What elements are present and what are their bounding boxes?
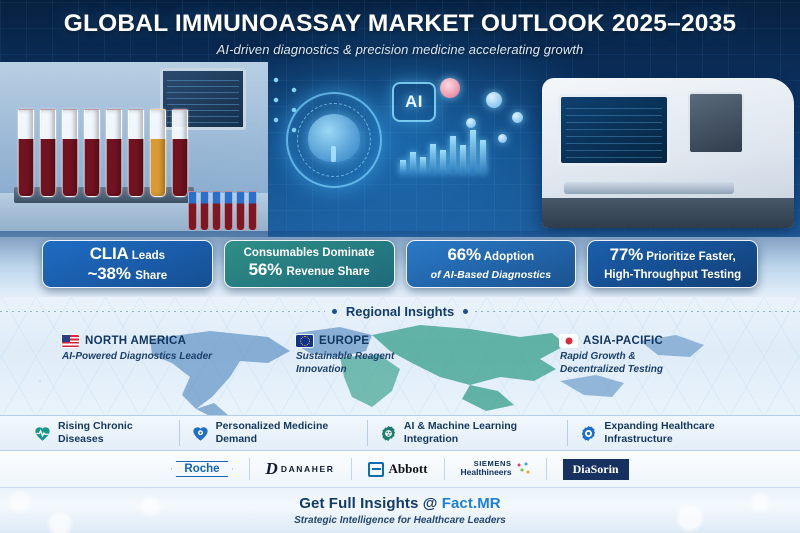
region-description: Sustainable Reagent Innovation (296, 350, 416, 376)
japan-flag-icon (560, 335, 577, 347)
roche-wordmark: Roche (171, 461, 232, 477)
rule-left (0, 311, 325, 312)
heart-pulse-icon (33, 424, 52, 443)
kpi-value: ~38% (88, 264, 131, 283)
kpi-card-clia-share[interactable]: CLIA Leads ~38% Share (42, 240, 213, 288)
bullet-dot-icon (332, 309, 337, 314)
kpi-card-throughput-priority[interactable]: 77% Prioritize Faster, High-Throughput T… (587, 240, 758, 288)
test-tube (172, 109, 188, 197)
abbott-wordmark: Abbott (389, 461, 428, 477)
market-drivers-row: Rising Chronic Diseases Personalized Med… (0, 415, 800, 451)
logo-abbott[interactable]: Abbott (351, 458, 444, 480)
analyzer-base (542, 198, 794, 228)
kpi-value: 66% (448, 245, 481, 264)
molecule-node-icon (466, 118, 476, 128)
gear-icon (579, 424, 598, 443)
mini-tube (200, 191, 209, 231)
regional-heading-rule: Regional Insights (0, 304, 800, 318)
kpi-label: Share (135, 270, 167, 282)
page-title: GLOBAL IMMUNOASSAY MARKET OUTLOOK 2025–2… (0, 10, 800, 38)
hero-banner: AI GLOBAL IMMUNOASSAY MARKET OUTLOOK 202… (0, 0, 800, 237)
mini-tube (212, 191, 221, 231)
driver-label: Expanding Healthcare Infrastructure (604, 420, 767, 446)
immunoassay-analyzer-photo (542, 78, 794, 228)
test-tube (84, 109, 100, 197)
cta-prefix: Get Full Insights @ (299, 495, 441, 512)
driver-label: AI & Machine Learning Integration (404, 420, 557, 446)
company-logos-row: Roche D DANAHER Abbott SIEMENS Healthine… (0, 451, 800, 488)
regional-insights-section: Regional Insights NORTH AMERICA AI-Power… (0, 297, 800, 415)
logo-diasorin[interactable]: DiaSorin (546, 458, 645, 480)
driver-personalized-medicine-demand[interactable]: Personalized Medicine Demand (179, 420, 367, 446)
molecule-node-icon (512, 112, 523, 123)
test-tube (18, 109, 34, 197)
kpi-label: of AI-Based Diagnostics (431, 269, 551, 281)
siemens-dots-icon (516, 462, 530, 476)
cell-cluster-icon (440, 78, 460, 98)
driver-ai-ml-integration[interactable]: AI & Machine Learning Integration (367, 420, 568, 446)
analyzer-sample-tray (564, 182, 734, 194)
abbott-mark-icon (368, 462, 384, 477)
blood-sample-tubes-photo (0, 62, 268, 237)
bullet-dot-icon (463, 309, 468, 314)
kpi-card-ai-adoption[interactable]: 66% Adoption of AI-Based Diagnostics (406, 240, 577, 288)
us-flag-icon (62, 335, 79, 347)
region-name: EUROPE (319, 335, 369, 347)
healthineers-wordmark: Healthineers (461, 468, 512, 477)
kpi-label: Adoption (484, 251, 534, 263)
test-tube (40, 109, 56, 197)
test-tube (62, 109, 78, 197)
region-north-america[interactable]: NORTH AMERICA AI-Powered Diagnostics Lea… (62, 335, 212, 363)
page-subtitle: AI-driven diagnostics & precision medici… (0, 42, 800, 57)
footer-cta-section: Get Full Insights @ Fact.MR Strategic In… (0, 488, 800, 533)
region-name: NORTH AMERICA (85, 335, 186, 347)
regional-heading: Regional Insights (344, 304, 456, 319)
kpi-label: Prioritize Faster, (646, 251, 735, 263)
brand-name: Fact.MR (442, 495, 501, 512)
heart-shield-icon (191, 424, 210, 443)
ai-badge: AI (392, 82, 436, 122)
kpi-value: CLIA (90, 244, 129, 263)
kpi-label: High-Throughput Testing (604, 269, 741, 281)
analyzer-sample-port (688, 92, 744, 154)
kpi-value: 77% (610, 245, 643, 264)
logo-roche[interactable]: Roche (155, 458, 248, 480)
kpi-value: 56% (249, 260, 282, 279)
cta-headline[interactable]: Get Full Insights @ Fact.MR (299, 495, 501, 512)
rule-right (475, 311, 800, 312)
driver-rising-chronic-diseases[interactable]: Rising Chronic Diseases (22, 420, 179, 446)
mini-tube (248, 191, 257, 231)
region-name: ASIA-PACIFIC (583, 335, 663, 347)
danaher-mark-icon: D (266, 459, 278, 479)
molecule-node-icon (486, 92, 502, 108)
ai-brain-icon (308, 114, 360, 162)
hologram-bar-chart (400, 128, 492, 174)
mini-tube (224, 191, 233, 231)
region-description: AI-Powered Diagnostics Leader (62, 350, 212, 363)
analyzer-touchscreen (558, 94, 670, 166)
test-tube-amber (150, 109, 166, 197)
kpi-label: Consumables Dominate (244, 247, 375, 259)
kpi-band: CLIA Leads ~38% Share Consumables Domina… (0, 231, 800, 297)
region-asia-pacific[interactable]: ASIA-PACIFIC Rapid Growth & Decentralize… (560, 335, 680, 376)
mini-tube (236, 191, 245, 231)
driver-label: Rising Chronic Diseases (58, 420, 168, 446)
eu-flag-icon (296, 335, 313, 347)
driver-label: Personalized Medicine Demand (216, 420, 356, 446)
molecule-node-icon (498, 134, 507, 143)
region-europe[interactable]: EUROPE Sustainable Reagent Innovation (296, 335, 416, 376)
gear-network-icon (379, 424, 398, 443)
diasorin-wordmark: DiaSorin (563, 459, 629, 480)
driver-expanding-healthcare-infrastructure[interactable]: Expanding Healthcare Infrastructure (567, 420, 778, 446)
kpi-label: Revenue Share (287, 266, 370, 278)
region-description: Rapid Growth & Decentralized Testing (560, 350, 680, 376)
danaher-wordmark: DANAHER (281, 464, 335, 474)
kpi-card-consumables-revenue[interactable]: Consumables Dominate 56% Revenue Share (224, 240, 395, 288)
logo-danaher[interactable]: D DANAHER (249, 458, 351, 480)
mini-tube (188, 191, 197, 231)
infographic-canvas: AI GLOBAL IMMUNOASSAY MARKET OUTLOOK 202… (0, 0, 800, 533)
logo-siemens-healthineers[interactable]: SIEMENS Healthineers (444, 458, 546, 480)
test-tube (106, 109, 122, 197)
footer-tagline: Strategic Intelligence for Healthcare Le… (294, 515, 506, 526)
kpi-label: Leads (132, 250, 165, 262)
mini-tube-tray (186, 187, 268, 231)
test-tube (128, 109, 144, 197)
